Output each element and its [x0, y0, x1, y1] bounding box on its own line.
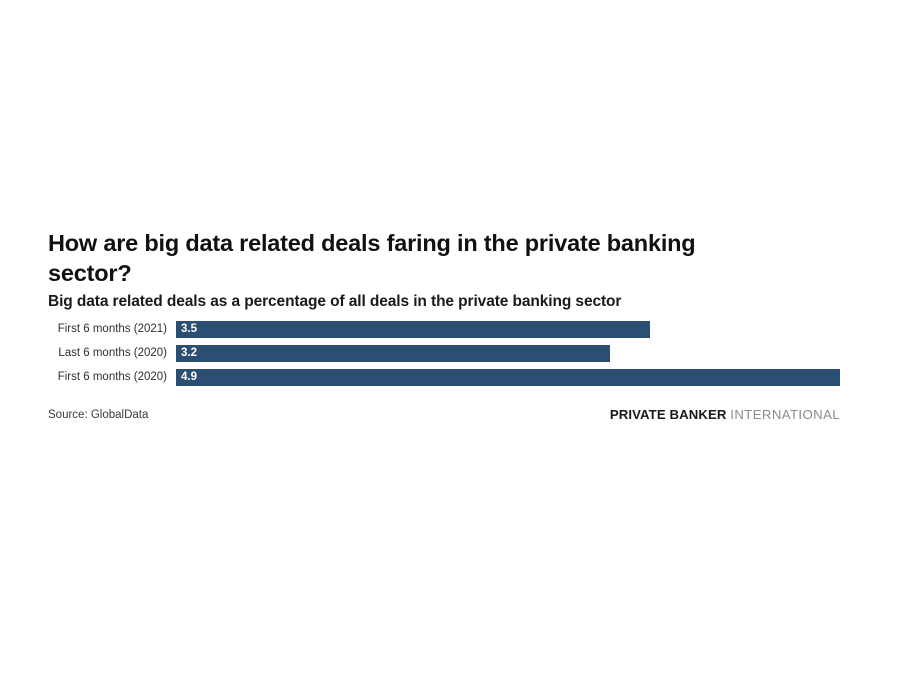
bar-track: 4.9	[176, 369, 840, 386]
source-attribution: Source: GlobalData	[48, 406, 148, 424]
brand-primary-text: PRIVATE BANKER	[610, 407, 730, 422]
bar-value-label: 3.5	[176, 324, 197, 336]
bar-row: Last 6 months (2020) 3.2	[48, 345, 840, 362]
bar-row: First 6 months (2021) 3.5	[48, 321, 840, 338]
bar: 3.5	[176, 321, 650, 338]
bar: 3.2	[176, 345, 610, 362]
bar: 4.9	[176, 369, 840, 386]
bar-value-label: 4.9	[176, 372, 197, 384]
chart-title: How are big data related deals faring in…	[48, 228, 778, 289]
chart-content-block: How are big data related deals faring in…	[48, 228, 840, 424]
category-label: First 6 months (2021)	[48, 324, 176, 336]
infographic-canvas: How are big data related deals faring in…	[0, 0, 900, 675]
bar-row: First 6 months (2020) 4.9	[48, 369, 840, 386]
brand-secondary-text: INTERNATIONAL	[730, 407, 840, 422]
chart-subtitle: Big data related deals as a percentage o…	[48, 292, 840, 312]
brand-logo: PRIVATE BANKER INTERNATIONAL	[610, 406, 840, 424]
chart-footer: Source: GlobalData PRIVATE BANKER INTERN…	[48, 406, 840, 424]
bar-track: 3.2	[176, 345, 840, 362]
category-label: Last 6 months (2020)	[48, 348, 176, 360]
bar-value-label: 3.2	[176, 348, 197, 360]
bar-track: 3.5	[176, 321, 840, 338]
category-label: First 6 months (2020)	[48, 372, 176, 384]
bar-chart-plot-area: First 6 months (2021) 3.5 Last 6 months …	[48, 321, 840, 386]
